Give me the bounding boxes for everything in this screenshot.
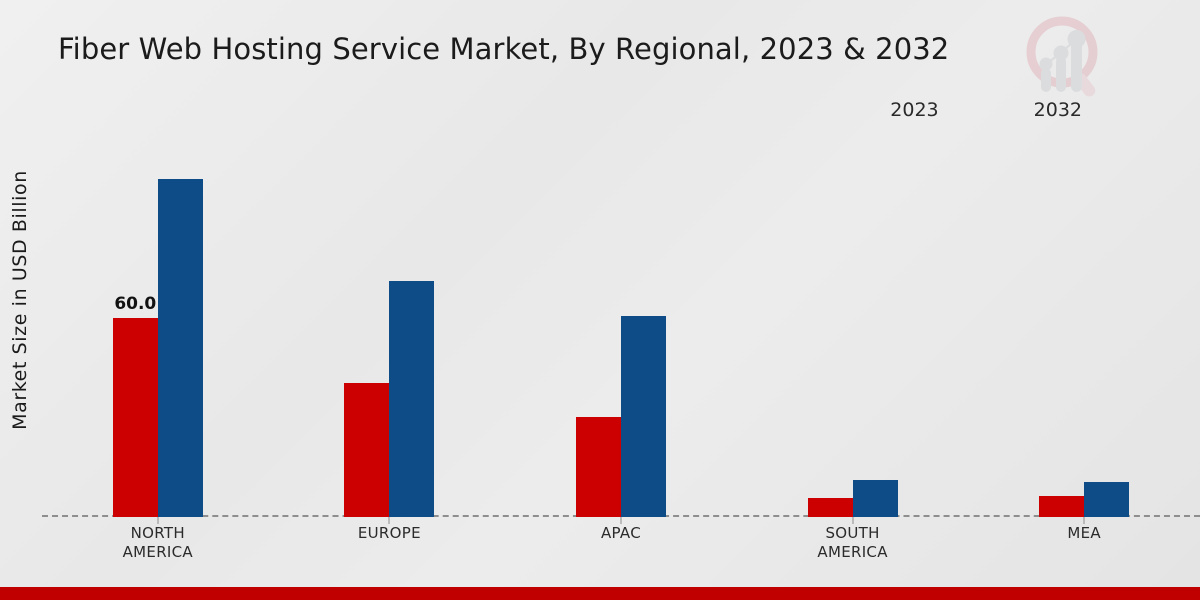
bar-group: 60.0 [42, 135, 274, 517]
x-axis-tick [620, 517, 621, 524]
legend-label-2023: 2023 [890, 101, 938, 120]
plot-area: 60.0 [42, 135, 1200, 517]
x-axis-tick [157, 517, 158, 524]
bar-group [505, 135, 737, 517]
magnifier-ring-icon [1031, 21, 1098, 99]
bar-chart-glyph-icon [1040, 30, 1086, 92]
x-axis-category-label: APAC [505, 524, 737, 562]
legend-item-2032[interactable]: 2032 [985, 101, 1082, 120]
bar-group [737, 135, 969, 517]
bar-group [968, 135, 1200, 517]
market-research-logo-watermark [1022, 6, 1108, 102]
x-axis-category-label: NORTHAMERICA [42, 524, 274, 562]
x-axis-category-labels: NORTHAMERICAEUROPEAPACSOUTHAMERICAMEA [42, 524, 1200, 562]
bar-2032[interactable] [853, 480, 898, 517]
bar-2023[interactable]: 60.0 [113, 318, 158, 517]
chart-canvas: Fiber Web Hosting Service Market, By Reg… [0, 0, 1200, 600]
category-label-line: NORTH [42, 524, 274, 543]
chart-legend: 2023 2032 [841, 101, 1082, 120]
bar-2032[interactable] [389, 281, 434, 517]
category-label-line: SOUTH [737, 524, 969, 543]
bar-2032[interactable] [1084, 482, 1129, 517]
bar-2032[interactable] [621, 316, 666, 517]
x-axis-tick [1084, 517, 1085, 524]
category-label-line: EUROPE [274, 524, 506, 543]
bar-2023[interactable] [1039, 496, 1084, 517]
category-label-line: APAC [505, 524, 737, 543]
x-axis-tick [389, 517, 390, 524]
legend-swatch-2023 [841, 103, 879, 118]
bar-2032[interactable] [158, 179, 203, 517]
category-label-line: AMERICA [737, 543, 969, 562]
bar-2023[interactable] [344, 383, 389, 517]
x-axis-category-label: EUROPE [274, 524, 506, 562]
x-axis-category-label: MEA [968, 524, 1200, 562]
footer-accent-bar [0, 587, 1200, 600]
x-axis-tick [852, 517, 853, 524]
bar-2023[interactable] [576, 417, 621, 517]
bar-value-label: 60.0 [114, 294, 156, 314]
legend-swatch-2032 [985, 103, 1023, 118]
y-axis-title: Market Size in USD Billion [0, 0, 40, 600]
bar-2023[interactable] [808, 498, 853, 517]
category-label-line: AMERICA [42, 543, 274, 562]
x-axis-category-label: SOUTHAMERICA [737, 524, 969, 562]
bar-groups: 60.0 [42, 135, 1200, 517]
y-axis-title-text: Market Size in USD Billion [9, 170, 31, 430]
chart-title: Fiber Web Hosting Service Market, By Reg… [58, 32, 949, 66]
bar-group [274, 135, 506, 517]
legend-item-2023[interactable]: 2023 [841, 101, 938, 120]
category-label-line: MEA [968, 524, 1200, 543]
legend-label-2032: 2032 [1034, 101, 1082, 120]
